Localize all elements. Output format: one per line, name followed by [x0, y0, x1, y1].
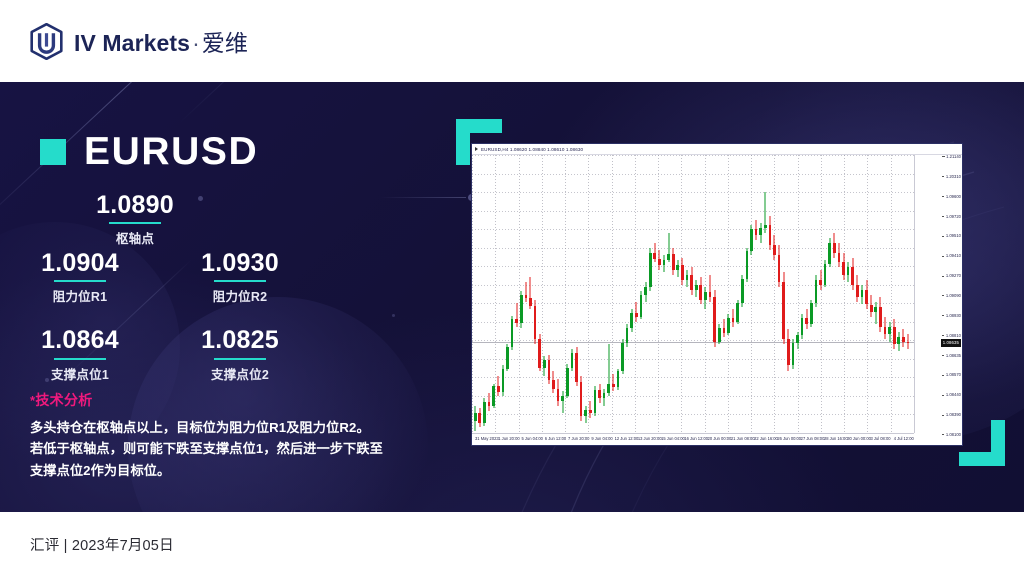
candle-body: [888, 327, 891, 334]
candlestick: [699, 155, 702, 433]
candlestick: [874, 155, 877, 433]
bracket-arm-vertical: [456, 119, 470, 165]
candlestick: [732, 155, 735, 433]
analysis-line: 支撑点位2作为目标位。: [30, 460, 405, 481]
candlestick: [502, 155, 505, 433]
candle-body: [584, 410, 587, 416]
candlestick: [838, 155, 841, 433]
candle-body: [828, 243, 831, 264]
candle-body: [764, 225, 767, 227]
candlestick: [598, 155, 601, 433]
candle-body: [861, 290, 864, 297]
analysis-heading: *技术分析: [30, 390, 405, 410]
candlestick: [676, 155, 679, 433]
candle-body: [732, 318, 735, 322]
candlestick: [529, 155, 532, 433]
candle-body: [525, 295, 528, 299]
price-axis-tick: 1.21140: [946, 155, 961, 159]
candlestick: [649, 155, 652, 433]
candle-body: [723, 328, 726, 333]
time-axis-tick: 21 Jun 08:00: [731, 437, 755, 441]
candle-body: [686, 275, 689, 280]
candle-body: [580, 382, 583, 415]
candle-body: [851, 267, 854, 284]
chevron-right-icon: [475, 147, 478, 151]
candlestick: [764, 155, 767, 433]
time-axis-tick: 9 Jun 04:00: [591, 437, 612, 441]
brand-label: IV Markets: [74, 30, 190, 56]
candle-body: [520, 295, 523, 323]
value-underline: [214, 280, 266, 282]
time-axis-tick: 30 Jun 00:00: [847, 437, 871, 441]
price-axis-tick: 1.09410: [946, 254, 961, 258]
candle-body: [515, 319, 518, 323]
value-underline: [214, 358, 266, 360]
candlestick: [478, 155, 481, 433]
candle-body: [497, 386, 500, 392]
info-panel: EURUSD 1.0890 枢轴点 1.0904 阻力位R1 1.0930 阻力…: [0, 82, 430, 512]
candle-body: [727, 318, 730, 333]
time-axis: 31 May 20231 Jun 20:005 Jun 04:006 Jun 1…: [472, 433, 914, 445]
candle-body: [492, 386, 495, 406]
candlestick: [589, 155, 592, 433]
candlestick: [723, 155, 726, 433]
candle-body: [769, 225, 772, 245]
candlestick: [704, 155, 707, 433]
price-axis-tick: 1.09600: [946, 195, 961, 199]
candlestick: [653, 155, 656, 433]
candlestick: [893, 155, 896, 433]
candle-body: [621, 343, 624, 371]
time-axis-tick: 6 Jun 12:00: [545, 437, 566, 441]
candlestick: [543, 155, 546, 433]
candle-body: [750, 229, 753, 251]
candle-body: [672, 254, 675, 270]
candlestick: [538, 155, 541, 433]
price-axis-tick: 1.09510: [946, 234, 961, 238]
price-axis-tick: 1.09090: [946, 294, 961, 298]
time-axis-tick: 27 Jun 08:00: [801, 437, 825, 441]
price-axis-tick: 1.08570: [946, 373, 961, 377]
candle-body: [649, 253, 652, 288]
candle-body: [755, 229, 758, 235]
candlestick: [607, 155, 610, 433]
candlestick: [571, 155, 574, 433]
price-axis-tick: 1.20310: [946, 175, 961, 179]
candle-body: [815, 280, 818, 303]
analysis-line: 若低于枢轴点，则可能下跌至支撑点位1，然后进一步下跌至: [30, 438, 405, 459]
level-value: 1.0864: [0, 327, 160, 353]
candlestick: [488, 155, 491, 433]
candlestick: [534, 155, 537, 433]
candle-body: [676, 265, 679, 270]
time-axis-tick: 1 Jun 20:00: [498, 437, 519, 441]
level-value: 1.0825: [160, 327, 320, 353]
candle-body: [773, 245, 776, 255]
candlestick: [603, 155, 606, 433]
time-axis-tick: 7 Jun 20:00: [568, 437, 589, 441]
candle-body: [630, 313, 633, 328]
candlestick: [612, 155, 615, 433]
candlestick: [492, 155, 495, 433]
candlestick: [575, 155, 578, 433]
level-label: 支撑点位2: [160, 364, 320, 383]
candlestick: [584, 155, 587, 433]
time-axis-tick: 3 Jul 08:00: [870, 437, 890, 441]
candle-body: [709, 292, 712, 297]
time-axis-tick: 31 May 2023: [475, 437, 499, 441]
current-price-tag: 1.08635: [941, 339, 961, 346]
candlestick: [548, 155, 551, 433]
candle-body: [506, 347, 509, 369]
candlestick: [552, 155, 555, 433]
candle-body: [842, 262, 845, 274]
page-header: IV Markets·爱维: [0, 0, 1024, 82]
chart-header: EURUSD,H4 1.08620 1.08840 1.08610 1.0863…: [472, 144, 962, 155]
time-axis-tick: 16 Jun 12:00: [684, 437, 708, 441]
level-cell-s2: 1.0825 支撑点位2: [160, 327, 320, 382]
price-axis-tick: 1.08100: [946, 433, 961, 437]
candlestick: [520, 155, 523, 433]
candle-body: [488, 402, 491, 406]
candlestick: [718, 155, 721, 433]
candle-wick: [875, 302, 876, 324]
candlestick: [621, 155, 624, 433]
candlestick: [658, 155, 661, 433]
candle-body: [667, 254, 670, 260]
candlestick: [769, 155, 772, 433]
chart-plot-area[interactable]: [472, 155, 914, 433]
level-value: 1.0930: [160, 250, 320, 276]
candlestick: [727, 155, 730, 433]
candle-wick: [525, 282, 526, 302]
candle-body: [594, 390, 597, 413]
time-axis-tick: 13 Jun 20:00: [638, 437, 662, 441]
pivot-value: 1.0890: [0, 192, 270, 218]
candle-body: [598, 390, 601, 399]
candlestick: [515, 155, 518, 433]
time-axis-tick: 28 Jun 16:00: [824, 437, 848, 441]
candlestick: [879, 155, 882, 433]
candle-body: [534, 306, 537, 339]
price-axis-tick: 1.08390: [946, 413, 961, 417]
candlestick: [796, 155, 799, 433]
levels-grid: 1.0904 阻力位R1 1.0930 阻力位R2 1.0864 支撑点位1: [0, 250, 320, 405]
candlestick: [805, 155, 808, 433]
candlestick: [897, 155, 900, 433]
candle-body: [511, 319, 514, 346]
price-axis-tick: 1.08930: [946, 314, 961, 318]
brand-name: IV Markets·爱维: [74, 24, 248, 58]
bracket-arm-vertical: [991, 420, 1005, 466]
candle-body: [907, 342, 910, 343]
candle-body: [759, 228, 762, 235]
candle-body: [690, 275, 693, 290]
candlestick: [736, 155, 739, 433]
slide-canvas: IV Markets·爱维 EURUSD 1.0890 枢轴点 1.0904 阻…: [0, 0, 1024, 576]
levels-row: 1.0904 阻力位R1 1.0930 阻力位R2: [0, 250, 320, 327]
candlestick: [594, 155, 597, 433]
candle-body: [529, 298, 532, 305]
candle-body: [557, 389, 560, 401]
candlestick: [787, 155, 790, 433]
brand-logo[interactable]: IV Markets·爱维: [30, 23, 248, 60]
analysis-line: 多头持仓在枢轴点以上，目标位为阻力位R1及阻力位R2。: [30, 417, 405, 438]
candlestick: [681, 155, 684, 433]
candle-body: [736, 303, 739, 322]
candlestick: [617, 155, 620, 433]
candlestick: [815, 155, 818, 433]
level-cell-r2: 1.0930 阻力位R2: [160, 250, 320, 305]
candlestick: [833, 155, 836, 433]
candle-body: [538, 339, 541, 367]
candle-body: [658, 259, 661, 265]
candlestick: [782, 155, 785, 433]
candle-body: [575, 353, 578, 383]
candlestick: [663, 155, 666, 433]
analysis-body: 多头持仓在枢轴点以上，目标位为阻力位R1及阻力位R2。 若低于枢轴点，则可能下跌…: [30, 417, 405, 481]
candle-body: [801, 318, 804, 335]
pivot-label: 枢轴点: [0, 228, 270, 247]
candle-body: [874, 307, 877, 312]
time-axis-tick: 22 Jun 16:00: [754, 437, 778, 441]
candlestick: [561, 155, 564, 433]
value-underline: [54, 280, 106, 282]
candlestick: [483, 155, 486, 433]
candlestick: [474, 155, 477, 433]
candle-body: [626, 328, 629, 343]
candle-body: [838, 253, 841, 263]
candlestick: [851, 155, 854, 433]
candle-wick: [516, 303, 517, 326]
candle-body: [566, 368, 569, 396]
candlestick: [506, 155, 509, 433]
footer-text: 汇评 | 2023年7月05日: [30, 534, 174, 555]
candlestick: [672, 155, 675, 433]
candle-body: [810, 303, 813, 324]
candle-body: [552, 380, 555, 389]
time-axis-tick: 26 Jun 00:00: [777, 437, 801, 441]
time-axis-tick: 5 Jun 04:00: [522, 437, 543, 441]
candlestick: [626, 155, 629, 433]
analysis-heading-label: 技术分析: [35, 392, 92, 408]
candle-body: [548, 360, 551, 380]
candlestick: [801, 155, 804, 433]
value-underline: [109, 222, 161, 224]
candlestick: [888, 155, 891, 433]
time-axis-tick: 20 Jun 00:00: [708, 437, 732, 441]
chart-header-title: EURUSD,H4 1.08620 1.08840 1.08610 1.0863…: [481, 147, 583, 152]
candle-body: [718, 328, 721, 342]
level-label: 支撑点位1: [0, 364, 160, 383]
level-label: 阻力位R2: [160, 286, 320, 305]
level-cell-s1: 1.0864 支撑点位1: [0, 327, 160, 382]
candlestick: [580, 155, 583, 433]
candle-body: [824, 264, 827, 285]
candle-body: [483, 402, 486, 423]
candlestick: [750, 155, 753, 433]
candle-body: [612, 384, 615, 388]
candlestick: [884, 155, 887, 433]
candlestick: [511, 155, 514, 433]
candlestick: [497, 155, 500, 433]
level-cell-r1: 1.0904 阻力位R1: [0, 250, 160, 305]
candle-body: [897, 337, 900, 344]
candle-body: [847, 267, 850, 274]
candle-body: [865, 290, 868, 305]
candlestick: [856, 155, 859, 433]
time-axis-tick: 12 Jun 12:00: [615, 437, 639, 441]
candlestick: [695, 155, 698, 433]
candlestick: [819, 155, 822, 433]
candle-body: [870, 305, 873, 312]
candle-body: [782, 282, 785, 339]
candlestick: [842, 155, 845, 433]
candlestick: [709, 155, 712, 433]
candlestick: [824, 155, 827, 433]
price-axis-tick: 1.08635: [946, 354, 961, 358]
candle-body: [902, 337, 905, 342]
candle-wick: [613, 374, 614, 391]
analysis-block: *技术分析 多头持仓在枢轴点以上，目标位为阻力位R1及阻力位R2。 若低于枢轴点…: [30, 390, 405, 481]
candle-body: [681, 265, 684, 280]
price-chart[interactable]: EURUSD,H4 1.08620 1.08840 1.08610 1.0863…: [471, 143, 963, 446]
shield-u-logo-icon: [30, 23, 63, 60]
candle-body: [819, 280, 822, 285]
teal-square-marker-icon: [40, 139, 66, 165]
candlestick: [870, 155, 873, 433]
price-axis-tick: 1.09720: [946, 215, 961, 219]
candle-body: [746, 251, 749, 278]
candle-body: [879, 307, 882, 327]
candle-body: [787, 339, 790, 365]
candlestick: [713, 155, 716, 433]
candle-body: [653, 253, 656, 259]
candle-body: [805, 318, 808, 324]
candle-body: [502, 369, 505, 392]
candle-body: [856, 285, 859, 297]
candle-body: [893, 327, 896, 344]
candle-wick: [636, 302, 637, 322]
candle-body: [603, 393, 606, 398]
candlestick: [525, 155, 528, 433]
candlestick: [865, 155, 868, 433]
candle-body: [635, 313, 638, 317]
price-axis-tick: 1.09270: [946, 274, 961, 278]
candlestick: [778, 155, 781, 433]
candlestick: [810, 155, 813, 433]
candlestick: [667, 155, 670, 433]
candle-body: [644, 287, 647, 294]
candlestick: [635, 155, 638, 433]
candlestick: [557, 155, 560, 433]
candle-body: [833, 243, 836, 253]
candle-body: [607, 384, 610, 394]
candle-body: [699, 285, 702, 300]
candle-body: [478, 413, 481, 423]
decor-bracket-bottom-right: [959, 420, 1005, 466]
candlestick: [566, 155, 569, 433]
candlestick: [644, 155, 647, 433]
brand-label-cn: 爱维: [202, 30, 248, 56]
candlestick: [847, 155, 850, 433]
time-axis-tick: 4 Jul 12:00: [894, 437, 914, 441]
candle-body: [640, 295, 643, 317]
instrument-title-row: EURUSD: [40, 132, 258, 171]
candle-wick: [562, 391, 563, 413]
brand-separator: ·: [190, 30, 202, 56]
candle-body: [561, 396, 564, 401]
value-underline: [54, 358, 106, 360]
candlestick: [690, 155, 693, 433]
candle-wick: [710, 275, 711, 302]
pivot-point-block: 1.0890 枢轴点: [0, 192, 270, 247]
candlestick: [630, 155, 633, 433]
candle-body: [796, 335, 799, 342]
candlestick: [686, 155, 689, 433]
price-axis-tick: 1.08810: [946, 334, 961, 338]
candle-body: [589, 410, 592, 414]
candlestick: [907, 155, 910, 433]
candle-body: [792, 343, 795, 365]
candlestick: [759, 155, 762, 433]
candle-body: [695, 285, 698, 290]
time-axis-tick: 15 Jun 04:00: [661, 437, 685, 441]
candle-body: [617, 371, 620, 387]
candlestick: [828, 155, 831, 433]
price-axis-tick: 1.08440: [946, 393, 961, 397]
candlestick: [640, 155, 643, 433]
candle-body: [778, 255, 781, 282]
level-value: 1.0904: [0, 250, 160, 276]
level-label: 阻力位R1: [0, 286, 160, 305]
candle-body: [543, 360, 546, 367]
candlestick: [746, 155, 749, 433]
page-footer: 汇评 | 2023年7月05日: [0, 512, 1024, 576]
candle-body: [741, 279, 744, 304]
candlestick: [773, 155, 776, 433]
chart-gridline-vertical: [472, 155, 473, 433]
candlestick: [861, 155, 864, 433]
candle-body: [663, 260, 666, 265]
candle-body: [474, 413, 477, 420]
candlestick: [755, 155, 758, 433]
page-title: EURUSD: [84, 132, 258, 171]
price-axis: 1.211401.203101.096001.097201.095101.094…: [914, 155, 962, 433]
candle-body: [884, 327, 887, 334]
candlestick: [792, 155, 795, 433]
candlestick: [902, 155, 905, 433]
candlestick: [741, 155, 744, 433]
candle-body: [571, 353, 574, 368]
candle-body: [704, 292, 707, 299]
candle-body: [713, 297, 716, 341]
